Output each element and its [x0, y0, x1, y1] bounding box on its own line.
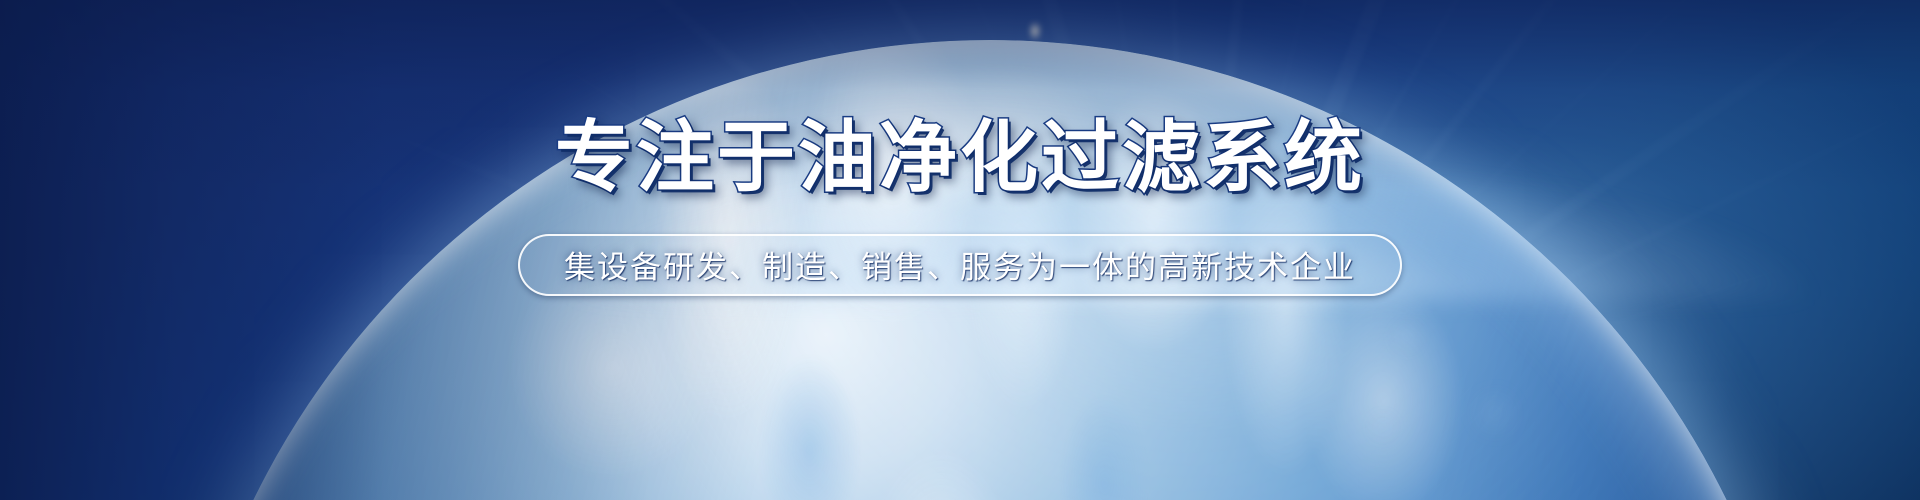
page-title: 专注于油净化过滤系统	[555, 118, 1365, 198]
subtitle-text: 集设备研发、制造、销售、服务为一体的高新技术企业	[564, 242, 1356, 287]
hero-banner: 专注于油净化过滤系统 集设备研发、制造、销售、服务为一体的高新技术企业	[0, 0, 1920, 500]
banner-content: 专注于油净化过滤系统 集设备研发、制造、销售、服务为一体的高新技术企业	[0, 0, 1920, 500]
subtitle-pill: 集设备研发、制造、销售、服务为一体的高新技术企业	[518, 234, 1402, 296]
